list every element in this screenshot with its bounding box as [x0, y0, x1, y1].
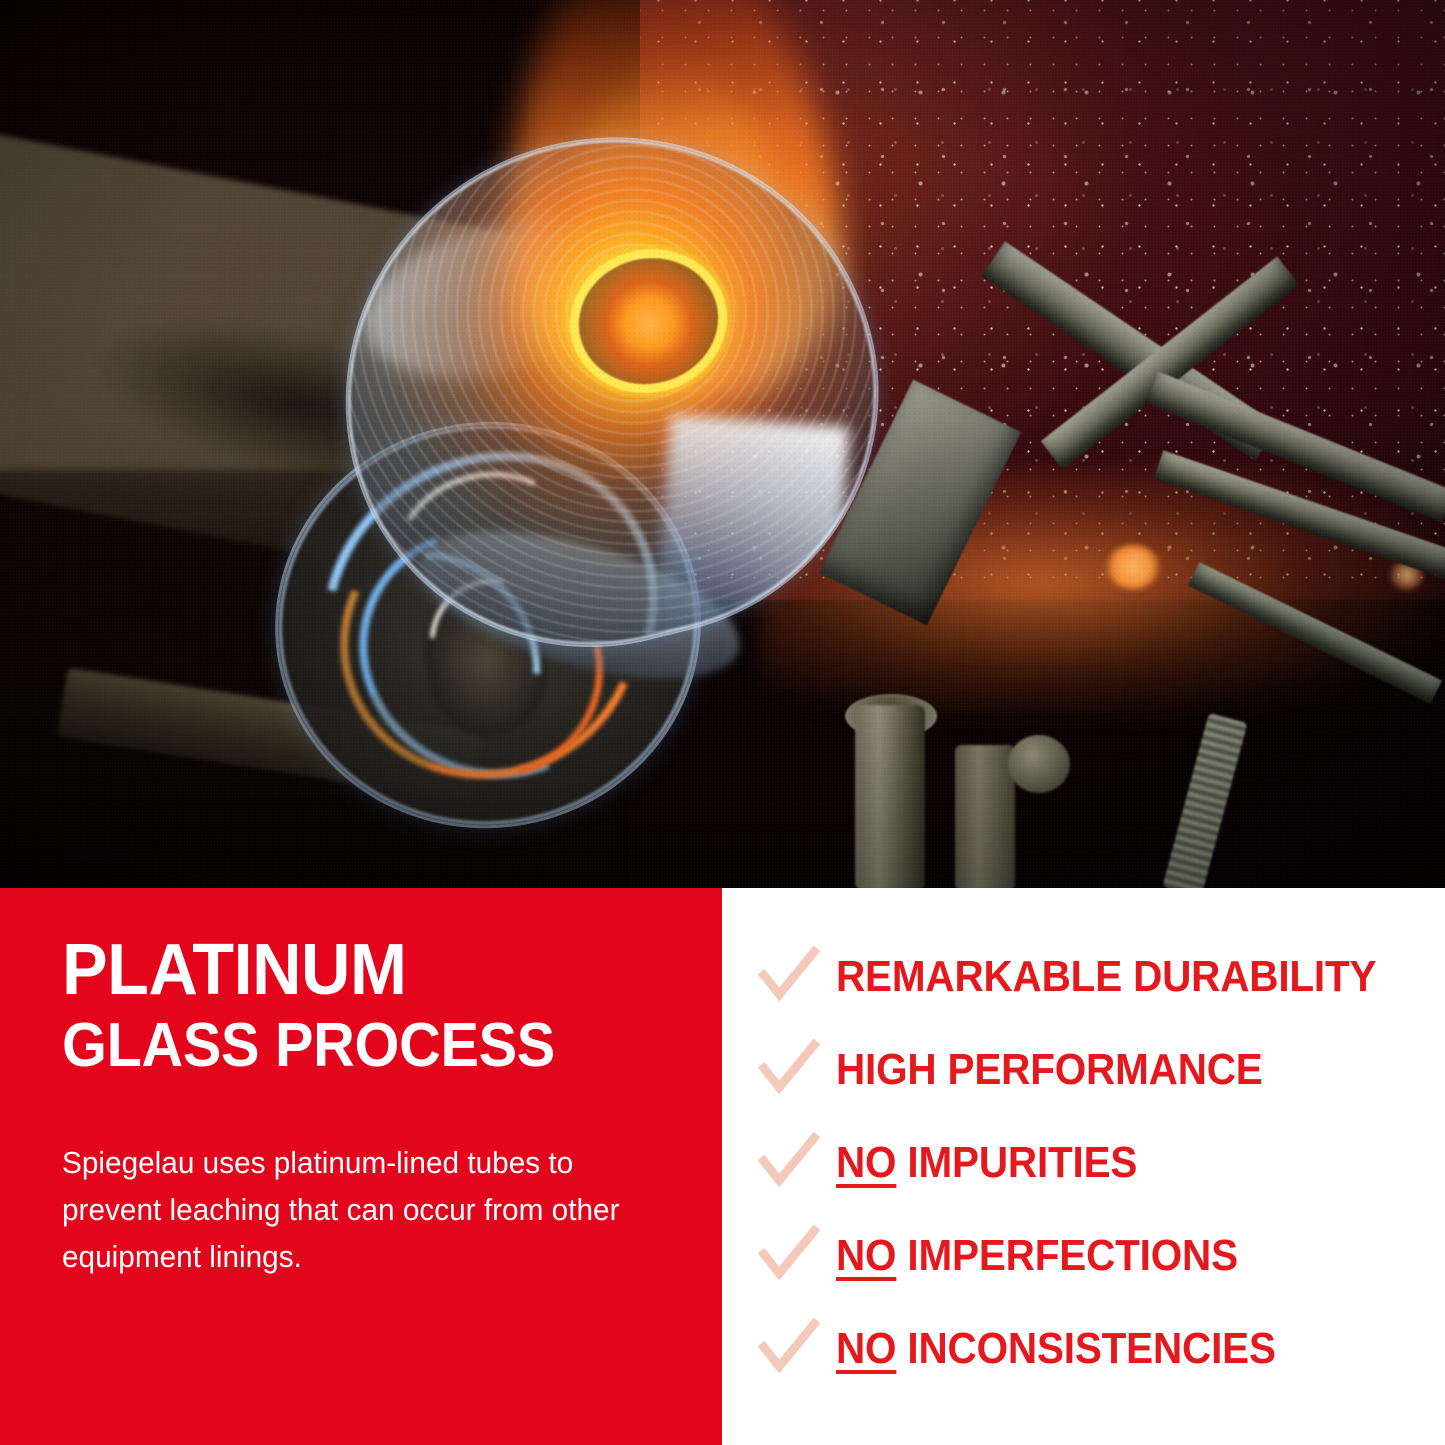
poster-root: PLATINUM GLASS PROCESS Spiegelau uses pl…	[0, 0, 1445, 1445]
benefit-text: IMPURITIES	[907, 1138, 1137, 1187]
list-item: NO IMPERFECTIONS	[758, 1209, 1425, 1302]
benefit-label: NO IMPURITIES	[836, 1141, 1137, 1185]
benefit-text: REMARKABLE DURABILITY	[836, 952, 1376, 1001]
bottom-section: PLATINUM GLASS PROCESS Spiegelau uses pl…	[0, 888, 1445, 1445]
list-item: HIGH PERFORMANCE	[758, 1023, 1425, 1116]
ember-light	[1105, 545, 1161, 589]
benefit-prefix: NO	[836, 1231, 896, 1280]
threaded-rod	[1162, 713, 1247, 888]
list-item: NO IMPURITIES	[758, 1116, 1425, 1209]
benefit-list: REMARKABLE DURABILITY HIGH PERFORMANCE	[758, 930, 1425, 1395]
machine-knob	[1008, 735, 1070, 793]
list-item: REMARKABLE DURABILITY	[758, 930, 1425, 1023]
check-icon	[758, 1318, 820, 1380]
benefit-label: REMARKABLE DURABILITY	[836, 955, 1376, 999]
machine-pipe	[855, 705, 925, 888]
check-icon	[758, 1132, 820, 1194]
check-icon	[758, 946, 820, 1008]
benefit-label: NO INCONSISTENCIES	[836, 1327, 1276, 1371]
benefit-text: INCONSISTENCIES	[907, 1324, 1275, 1373]
benefits-panel: REMARKABLE DURABILITY HIGH PERFORMANCE	[722, 888, 1445, 1445]
description-text: Spiegelau uses platinum-lined tubes to p…	[62, 1139, 638, 1280]
list-item: NO INCONSISTENCIES	[758, 1302, 1425, 1395]
page-title-line-2: GLASS PROCESS	[62, 1015, 622, 1077]
machine-pipe-2	[955, 745, 1015, 888]
benefit-label: NO IMPERFECTIONS	[836, 1234, 1238, 1278]
check-icon	[758, 1039, 820, 1101]
glassblowing-photo	[0, 0, 1445, 888]
photo-scene	[0, 0, 1445, 888]
benefit-text: IMPERFECTIONS	[907, 1231, 1237, 1280]
benefit-label: HIGH PERFORMANCE	[836, 1048, 1263, 1092]
page-title-line-1: PLATINUM	[62, 936, 634, 1005]
benefit-prefix: NO	[836, 1138, 896, 1187]
benefit-text: HIGH PERFORMANCE	[836, 1045, 1263, 1094]
red-headline-panel: PLATINUM GLASS PROCESS Spiegelau uses pl…	[0, 888, 722, 1445]
benefit-prefix: NO	[836, 1324, 896, 1373]
check-icon	[758, 1225, 820, 1287]
